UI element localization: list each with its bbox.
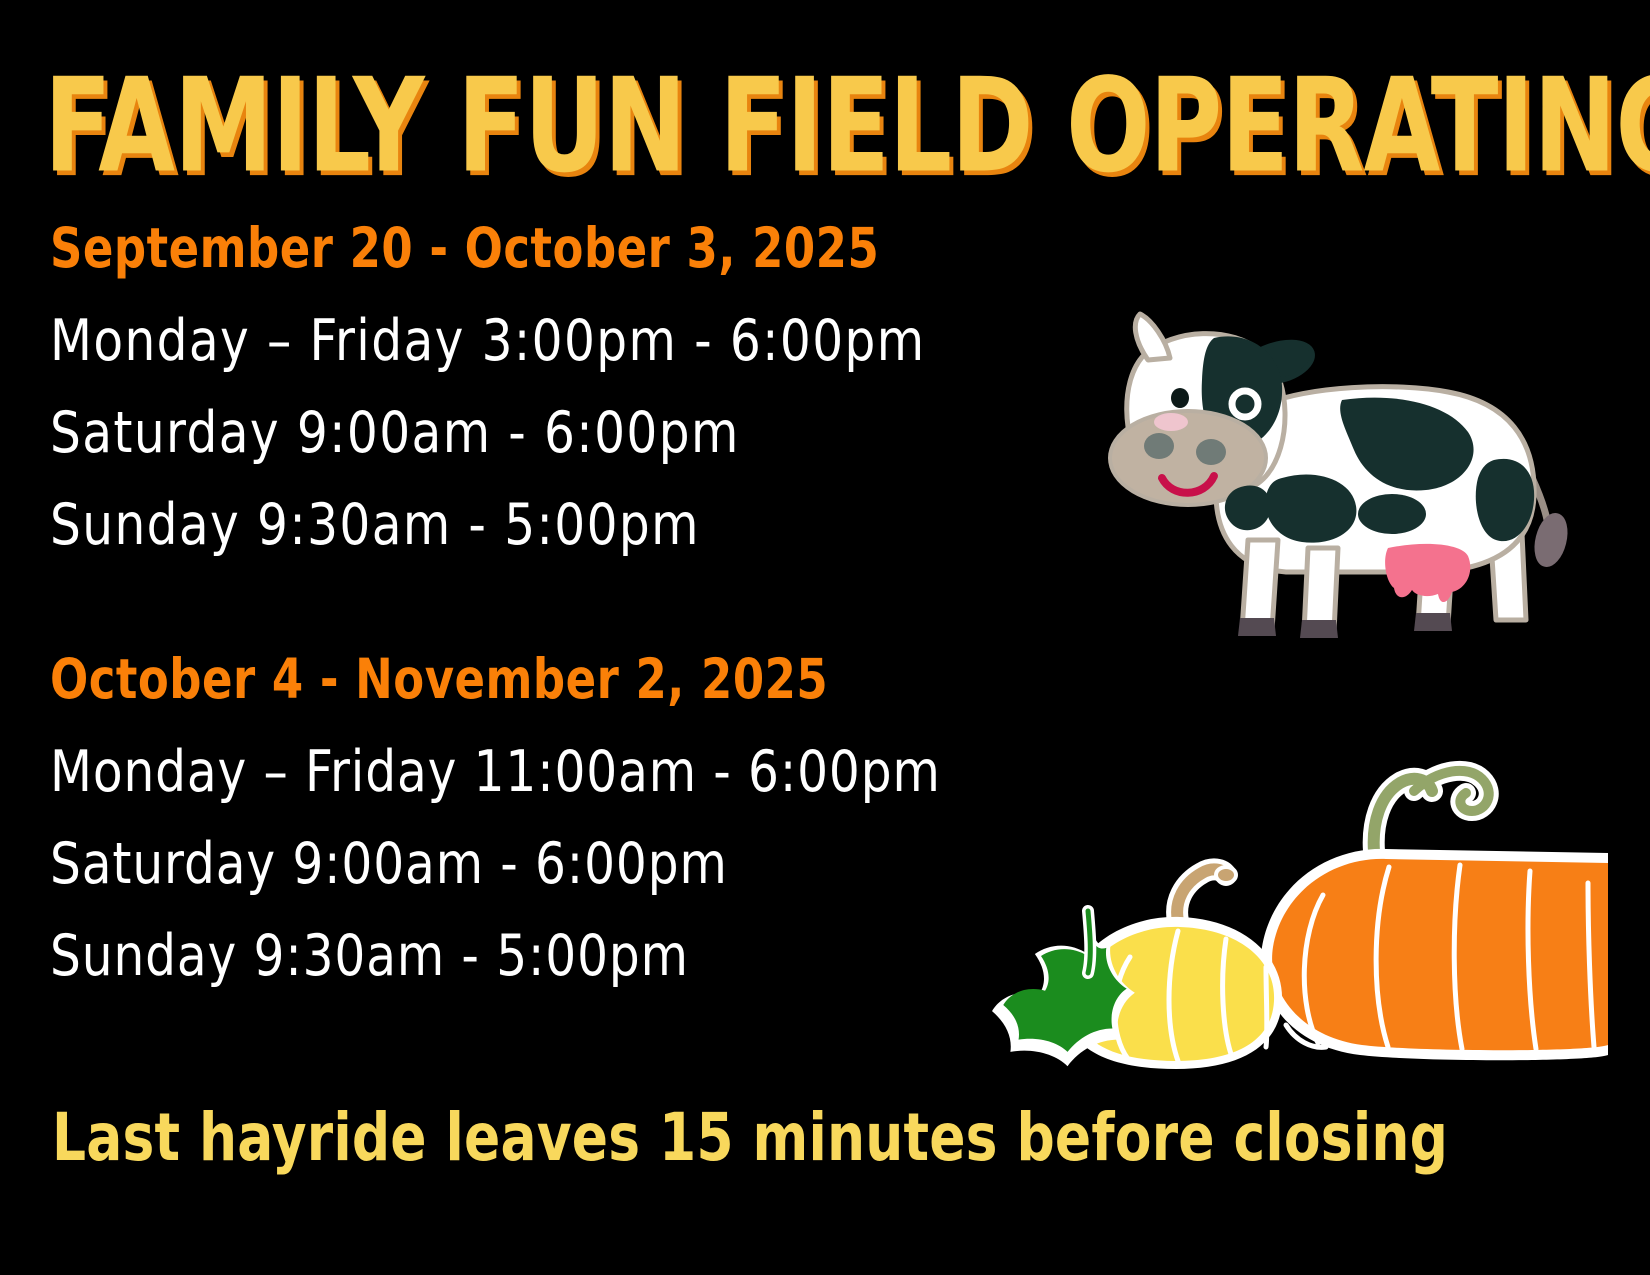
- schedule-section-2: October 4 - November 2, 2025 Monday – Fr…: [50, 645, 941, 999]
- page-title: FAMILY FUN FIELD OPERATING HOURS: [44, 58, 1583, 197]
- poster-canvas: FAMILY FUN FIELD OPERATING HOURS Septemb…: [0, 0, 1650, 1275]
- cow-blush: [1154, 413, 1188, 431]
- cow-illustration: [1096, 300, 1566, 645]
- date-range-heading-1: September 20 - October 3, 2025: [50, 214, 926, 282]
- cow-icon: [1096, 300, 1566, 645]
- cow-nostril-right: [1196, 439, 1226, 465]
- hours-line: Sunday 9:30am - 5:00pm: [50, 907, 941, 1005]
- large-pumpkin: [1261, 771, 1608, 1060]
- schedule-section-1: September 20 - October 3, 2025 Monday – …: [50, 214, 926, 568]
- hours-line: Sunday 9:30am - 5:00pm: [50, 476, 926, 574]
- hours-line: Saturday 9:00am - 6:00pm: [50, 384, 926, 482]
- pumpkins-icon: [990, 735, 1610, 1065]
- hours-line: Saturday 9:00am - 6:00pm: [50, 815, 941, 913]
- cow-eye-left: [1171, 388, 1189, 408]
- hours-line: Monday – Friday 11:00am - 6:00pm: [50, 723, 941, 821]
- cow-udder: [1385, 544, 1470, 602]
- pumpkin-illustration: [990, 735, 1610, 1065]
- hours-line: Monday – Friday 3:00pm - 6:00pm: [50, 292, 926, 390]
- footer-note: Last hayride leaves 15 minutes before cl…: [52, 1096, 1448, 1180]
- date-range-heading-2: October 4 - November 2, 2025: [50, 645, 941, 713]
- cow-nostril-left: [1144, 433, 1174, 459]
